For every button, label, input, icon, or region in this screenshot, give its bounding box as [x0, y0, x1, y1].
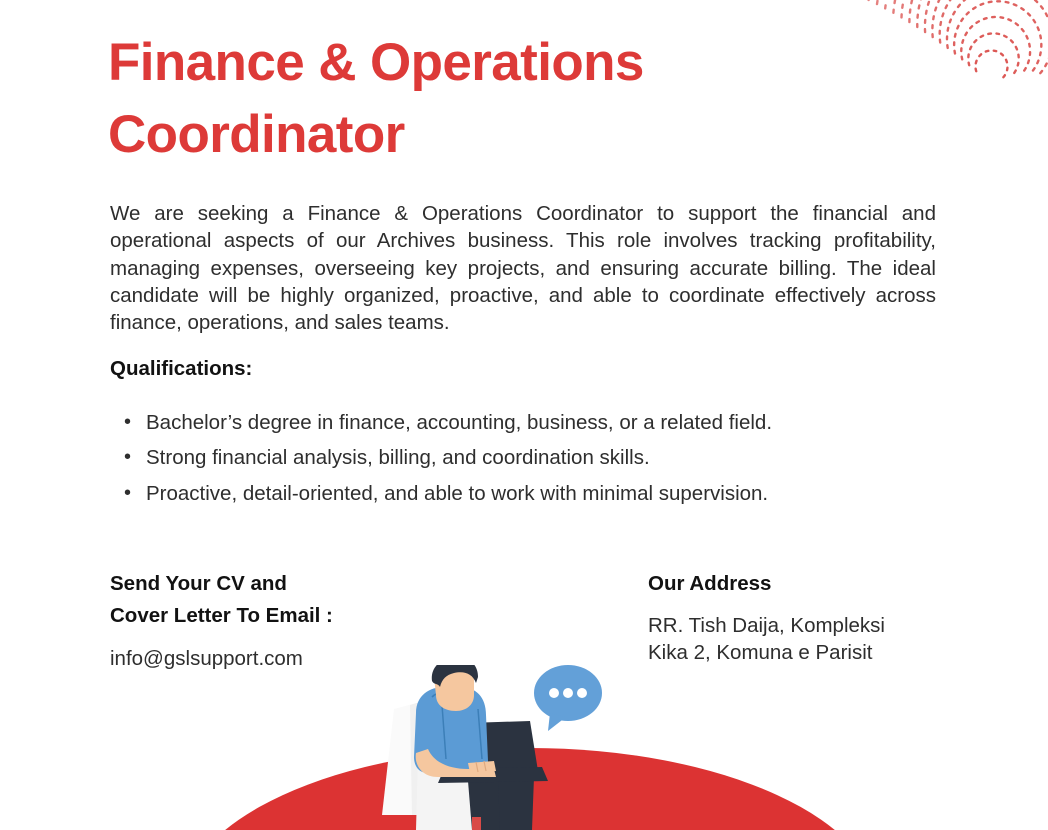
send-cv-heading-line2: Cover Letter To Email :: [110, 600, 580, 632]
address-line2: Kika 2, Komuna e Parisit: [648, 639, 1008, 666]
list-item: Proactive, detail-oriented, and able to …: [146, 476, 976, 511]
our-address-heading: Our Address: [648, 568, 1008, 600]
person-legs: [468, 777, 534, 830]
job-posting-poster: Finance & Operations Coordinator We are …: [0, 0, 1048, 830]
chat-speech-bubble-icon: [534, 665, 602, 731]
concentric-arcs-icon: [0, 170, 104, 450]
list-item: Strong financial analysis, billing, and …: [146, 440, 976, 475]
qualifications-heading: Qualifications:: [110, 357, 252, 381]
address-line1: RR. Tish Daija, Kompleksi: [648, 612, 1008, 639]
email-address[interactable]: info@gslsupport.com: [110, 645, 580, 672]
list-item: Bachelor’s degree in finance, accounting…: [146, 405, 976, 440]
send-cv-heading-line1: Send Your CV and: [110, 568, 580, 600]
intro-paragraph: We are seeking a Finance & Operations Co…: [110, 200, 936, 336]
qualifications-list: Bachelor’s degree in finance, accounting…: [110, 405, 976, 511]
person-working-on-laptop-illustration: [372, 665, 662, 830]
contact-email-block: Send Your CV and Cover Letter To Email :…: [110, 568, 580, 672]
contact-address-block: Our Address RR. Tish Daija, Kompleksi Ki…: [648, 568, 1008, 666]
page-title: Finance & Operations Coordinator: [108, 27, 808, 171]
